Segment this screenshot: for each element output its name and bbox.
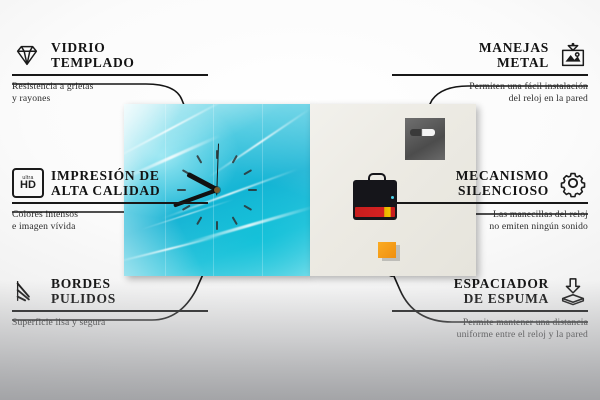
diamond-icon (12, 40, 42, 70)
feature-description: Superficie lisa y segura (12, 317, 208, 329)
feature-impresion-alta-calidad: ultraHD IMPRESIÓN DE ALTA CALIDAD Colore… (12, 168, 208, 233)
gear-icon (558, 168, 588, 198)
feature-title: ESPACIADOR DE ESPUMA (454, 276, 549, 306)
infographic-canvas: VIDRIO TEMPLADO Resistencia a grietas y … (0, 0, 600, 400)
feature-title: MECANISMO SILENCIOSO (456, 168, 549, 198)
feature-vidrio-templado: VIDRIO TEMPLADO Resistencia a grietas y … (12, 40, 208, 105)
divider (392, 74, 588, 76)
feature-title: MANEJAS METAL (479, 40, 549, 70)
divider (392, 202, 588, 204)
feature-title: IMPRESIÓN DE ALTA CALIDAD (51, 168, 160, 198)
feature-description: Resistencia a grietas y rayones (12, 81, 208, 105)
divider (12, 310, 208, 312)
feature-title: BORDES PULIDOS (51, 276, 116, 306)
feature-description: Permiten una fácil instalación del reloj… (392, 81, 588, 105)
feature-title: VIDRIO TEMPLADO (51, 40, 135, 70)
divider (12, 202, 208, 204)
ultra-hd-icon: ultraHD (12, 168, 42, 198)
polished-edges-icon (12, 276, 42, 306)
metal-hanger-plate (405, 118, 445, 160)
foam-spacer-icon (558, 276, 588, 306)
feature-description: Las manecillas del reloj no emiten ningú… (392, 209, 588, 233)
foam-spacer (378, 242, 396, 258)
feature-espaciador-espuma: ESPACIADOR DE ESPUMA Permite mantener un… (392, 276, 588, 341)
divider (392, 310, 588, 312)
feature-description: Permite mantener una distancia uniforme … (392, 317, 588, 341)
feature-description: Colores intensos e imagen vívida (12, 209, 208, 233)
picture-hanger-icon (558, 40, 588, 70)
feature-mecanismo-silencioso: MECANISMO SILENCIOSO Las manecillas del … (392, 168, 588, 233)
feature-manejas-metal: MANEJAS METAL Permiten una fácil instala… (392, 40, 588, 105)
clock-mechanism (353, 180, 397, 220)
feature-bordes-pulidos: BORDES PULIDOS Superficie lisa y segura (12, 276, 208, 329)
battery (355, 207, 395, 217)
divider (12, 74, 208, 76)
hand-center-cap (214, 187, 220, 193)
